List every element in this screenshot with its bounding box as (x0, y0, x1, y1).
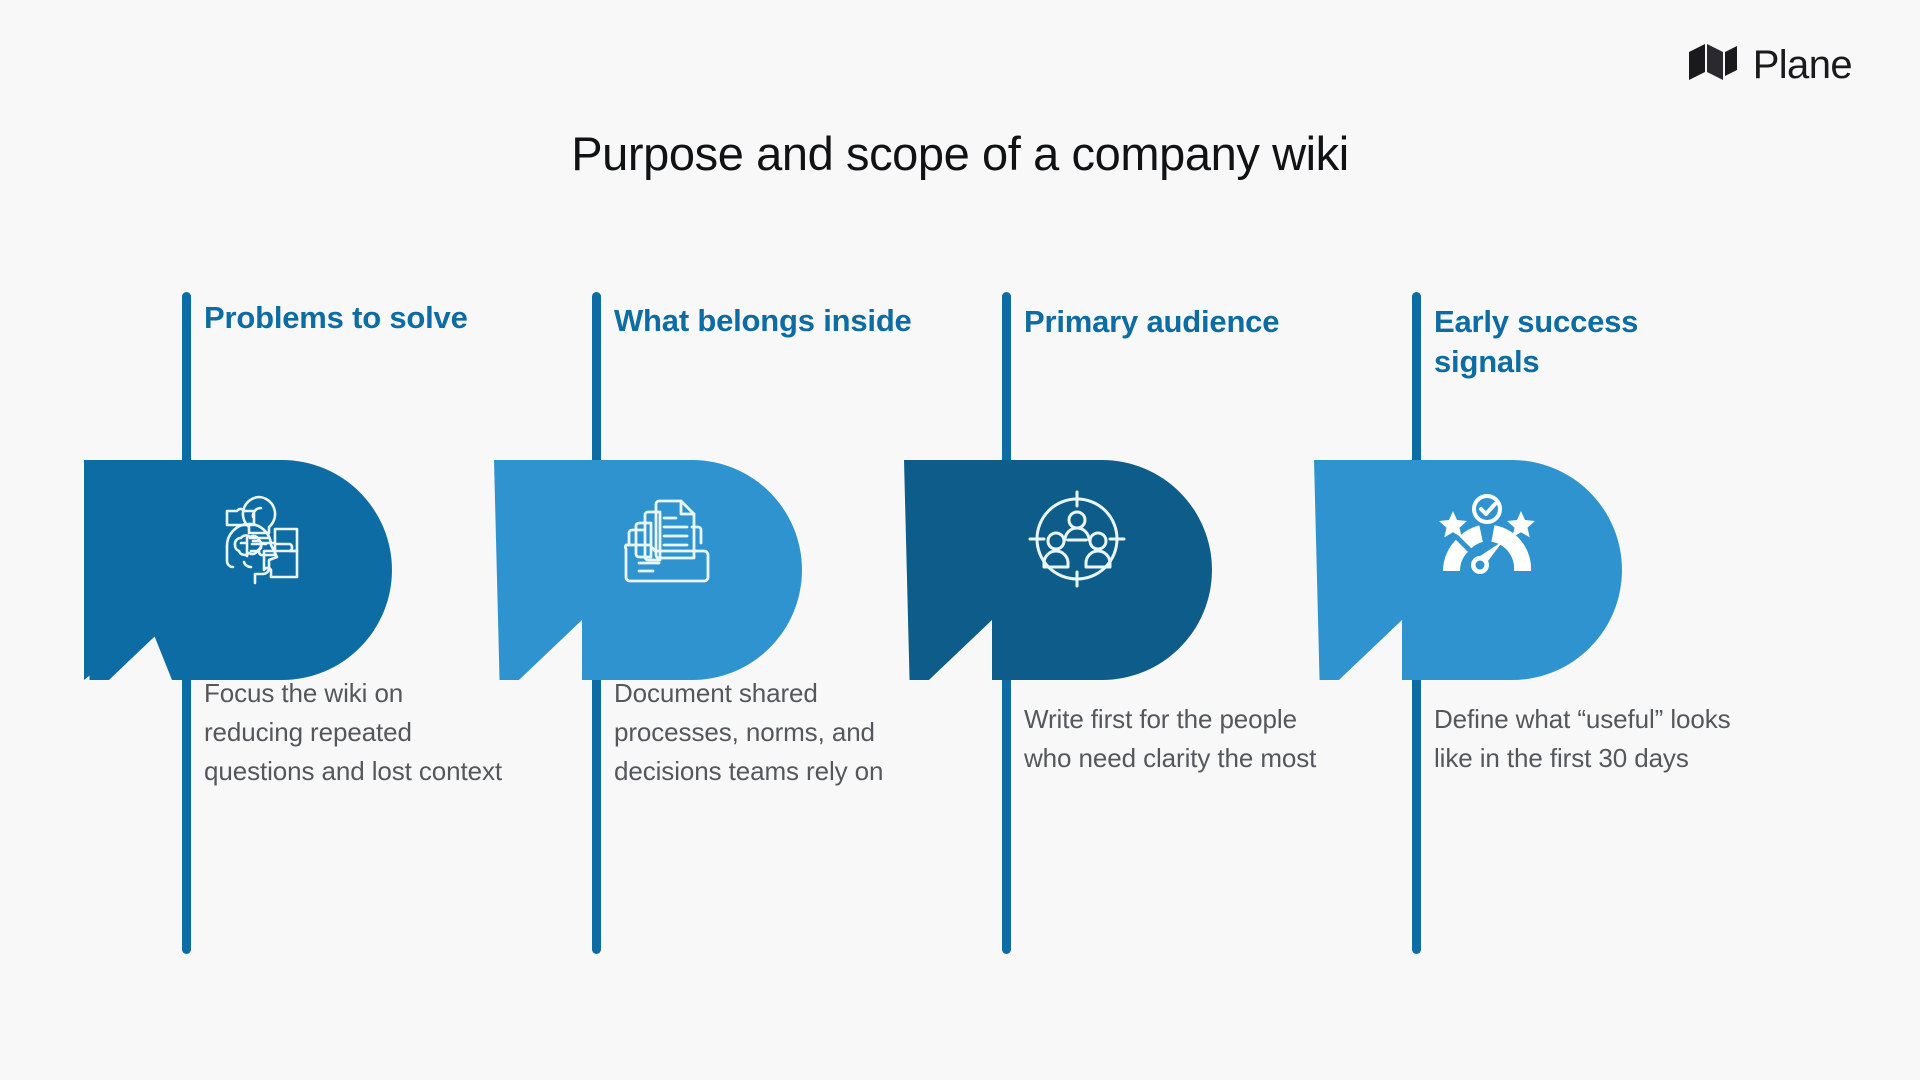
column-body: Write first for the people who need clar… (1024, 700, 1324, 778)
brand-name: Plane (1753, 45, 1852, 85)
plane-logo-icon (1687, 42, 1739, 87)
column-banner (904, 460, 1212, 680)
column-banner (84, 460, 392, 680)
brain-lightbulb-puzzle-icon (202, 484, 312, 594)
column-banner (1314, 460, 1622, 680)
column-heading: Problems to solve (204, 298, 504, 338)
page-title: Purpose and scope of a company wiki (0, 126, 1920, 181)
target-people-icon (1022, 484, 1132, 594)
column-body: Define what “useful” looks like in the f… (1434, 700, 1734, 778)
column-heading: What belongs inside (614, 301, 914, 341)
column-body: Focus the wiki on reducing repeated ques… (204, 674, 504, 791)
column-body: Document shared processes, norms, and de… (614, 674, 914, 791)
gauge-stars-check-icon (1432, 484, 1542, 594)
infographic-page: { "brand": { "name": "Plane", "logo_icon… (0, 0, 1920, 1080)
folder-documents-icon (612, 484, 722, 594)
column-early-success-signals: Early success signals Define what “usefu… (1382, 292, 1792, 972)
columns-row: Problems to solve Focus the wiki on redu… (0, 292, 1920, 972)
column-heading: Early success signals (1434, 302, 1734, 381)
brand-logo: Plane (1687, 42, 1852, 87)
column-banner (494, 460, 802, 680)
column-heading: Primary audience (1024, 302, 1324, 342)
